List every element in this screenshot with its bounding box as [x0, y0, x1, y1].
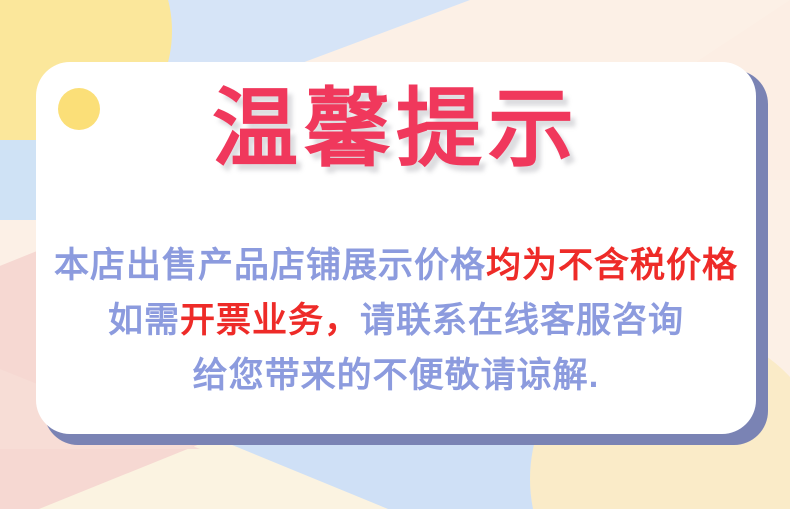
notice-text-segment: 均为不含税价格: [486, 246, 738, 285]
page-title: 温馨提示: [36, 86, 756, 172]
notice-banner: 温馨提示 本店出售产品店铺展示价格均为不含税价格 如需开票业务，请联系在线客服咨…: [0, 0, 790, 509]
notice-line-1: 本店出售产品店铺展示价格均为不含税价格: [36, 238, 756, 293]
notice-text-segment: 开票业务，: [180, 301, 360, 340]
notice-text-segment: 请联系在线客服咨询: [360, 301, 684, 340]
notice-line-3: 给您带来的不便敬请谅解.: [36, 348, 756, 403]
notice-card: 温馨提示 本店出售产品店铺展示价格均为不含税价格 如需开票业务，请联系在线客服咨…: [36, 62, 756, 434]
notice-text-segment: 本店出售产品店铺展示价格: [54, 246, 486, 285]
notice-body: 本店出售产品店铺展示价格均为不含税价格 如需开票业务，请联系在线客服咨询 给您带…: [36, 238, 756, 403]
notice-line-2: 如需开票业务，请联系在线客服咨询: [36, 293, 756, 348]
notice-text-segment: 如需: [108, 301, 180, 340]
blue-sliver-shape: [0, 140, 40, 220]
notice-text-segment: 给您带来的不便敬请谅解.: [193, 356, 600, 395]
